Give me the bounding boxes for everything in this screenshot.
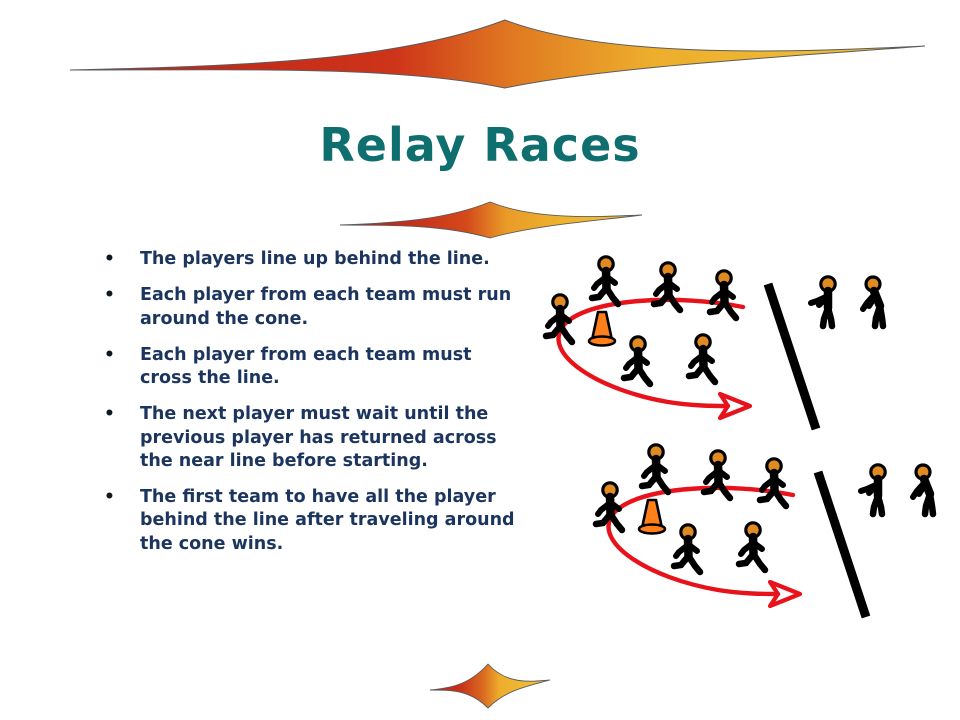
bullet-marker: • xyxy=(104,284,115,307)
bullet-marker: • xyxy=(104,486,115,509)
runner-figure xyxy=(710,271,736,318)
list-item: • The players line up behind the line. xyxy=(96,248,516,271)
bullet-marker: • xyxy=(104,248,115,271)
list-item-text: Each player from each team must run arou… xyxy=(140,285,511,328)
runner-figure xyxy=(760,459,786,506)
list-item-text: The next player must wait until the prev… xyxy=(140,404,497,471)
waiting-figure xyxy=(861,465,885,514)
relay-diagram-top xyxy=(528,244,948,444)
waiting-figure xyxy=(811,277,835,326)
runner-figure xyxy=(624,337,650,384)
bullet-marker: • xyxy=(104,344,115,367)
start-line xyxy=(768,284,816,429)
slide: Relay Races • The players line up behind… xyxy=(0,0,960,720)
list-item-text: Each player from each team must cross th… xyxy=(140,345,472,388)
page-title: Relay Races xyxy=(0,118,960,172)
runner-figure xyxy=(739,523,765,570)
waiting-figure xyxy=(913,465,933,514)
list-item: • Each player from each team must run ar… xyxy=(96,284,516,331)
start-line xyxy=(818,472,866,617)
runner-figure xyxy=(642,445,668,492)
runner-figure xyxy=(654,263,680,310)
list-item: • Each player from each team must cross … xyxy=(96,344,516,391)
traffic-cone-icon xyxy=(589,312,615,346)
list-item-text: The first team to have all the player be… xyxy=(140,487,515,554)
runner-figure xyxy=(592,257,618,304)
runner-figure xyxy=(674,525,700,572)
top-banner-ornament xyxy=(0,8,960,92)
relay-path-arrow xyxy=(609,488,800,606)
list-item: • The first team to have all the player … xyxy=(96,486,516,556)
list-item-text: The players line up behind the line. xyxy=(140,249,490,269)
list-item: • The next player must wait until the pr… xyxy=(96,403,516,473)
runner-figure xyxy=(704,451,730,498)
relay-path-arrow xyxy=(559,300,750,418)
runner-figure xyxy=(689,335,715,382)
traffic-cone-icon xyxy=(639,500,665,534)
relay-diagram-bottom xyxy=(578,432,960,632)
bullet-marker: • xyxy=(104,403,115,426)
bullet-list: • The players line up behind the line. •… xyxy=(96,248,516,556)
bottom-ornament xyxy=(420,652,560,720)
waiting-figure xyxy=(863,277,883,326)
title-divider-ornament xyxy=(320,192,660,246)
